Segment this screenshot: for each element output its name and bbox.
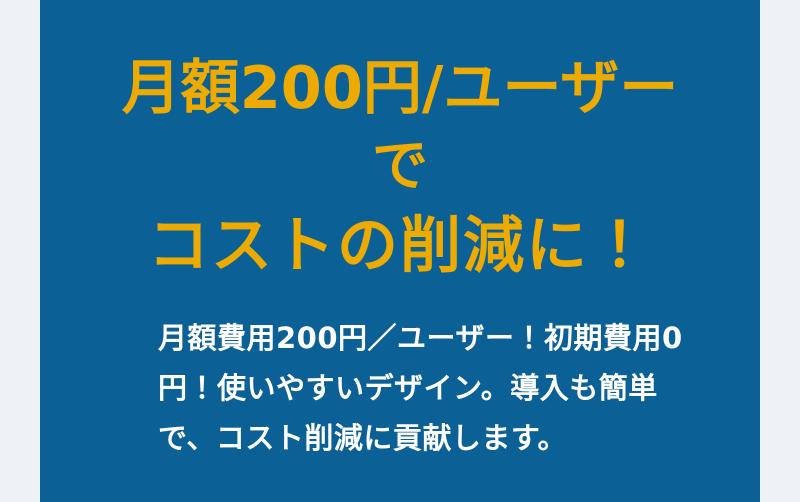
body-copy-line-3: で、コスト削減に貢献します。 [158, 413, 728, 463]
body-copy: 月額費用200円／ユーザー！初期費用0 円！使いやすいデザイン。導入も簡単 で、… [158, 313, 728, 463]
headline-line-3: コストの削減に！ [40, 206, 760, 285]
body-copy-line-2: 円！使いやすいデザイン。導入も簡単 [158, 363, 728, 413]
banner-panel: 月額200円/ユーザー で コストの削減に！ 月額費用200円／ユーザー！初期費… [40, 0, 760, 502]
headline: 月額200円/ユーザー で コストの削減に！ [40, 48, 760, 285]
body-copy-line-1: 月額費用200円／ユーザー！初期費用0 [158, 313, 728, 363]
banner-canvas: 月額200円/ユーザー で コストの削減に！ 月額費用200円／ユーザー！初期費… [0, 0, 800, 502]
headline-line-2: で [40, 127, 760, 206]
headline-line-1: 月額200円/ユーザー [40, 48, 760, 127]
